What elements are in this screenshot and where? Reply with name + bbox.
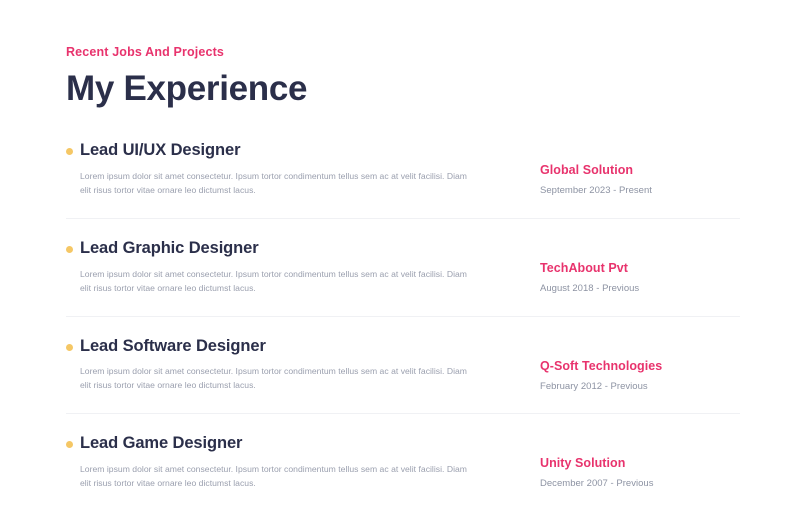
experience-company-name: TechAbout Pvt [540, 261, 740, 276]
experience-role-description: Lorem ipsum dolor sit amet consectetur. … [80, 365, 472, 393]
experience-item-company: TechAbout Pvt August 2018 - Previous [540, 239, 740, 294]
experience-company-period: August 2018 - Previous [540, 283, 740, 294]
experience-company-name: Q-Soft Technologies [540, 359, 740, 374]
experience-role-description: Lorem ipsum dolor sit amet consectetur. … [80, 268, 472, 296]
bullet-dot-icon [66, 441, 73, 448]
experience-company-period: December 2007 - Previous [540, 478, 740, 489]
experience-company-name: Unity Solution [540, 456, 740, 471]
experience-role-title: Lead Graphic Designer [80, 239, 500, 259]
experience-item-details: Lead Game Designer Lorem ipsum dolor sit… [66, 434, 500, 491]
experience-item-company: Unity Solution December 2007 - Previous [540, 434, 740, 489]
experience-item-details: Lead Graphic Designer Lorem ipsum dolor … [66, 239, 500, 296]
experience-item-details: Lead Software Designer Lorem ipsum dolor… [66, 337, 500, 394]
experience-company-period: February 2012 - Previous [540, 381, 740, 392]
experience-company-period: September 2023 - Present [540, 185, 740, 196]
bullet-dot-icon [66, 246, 73, 253]
experience-item-company: Global Solution September 2023 - Present [540, 141, 740, 196]
experience-company-name: Global Solution [540, 163, 740, 178]
experience-item-company: Q-Soft Technologies February 2012 - Prev… [540, 337, 740, 392]
experience-role-title: Lead UI/UX Designer [80, 141, 500, 161]
experience-item[interactable]: Lead Graphic Designer Lorem ipsum dolor … [66, 219, 740, 317]
experience-item-details: Lead UI/UX Designer Lorem ipsum dolor si… [66, 141, 500, 198]
page-title: My Experience [66, 70, 740, 109]
experience-page: Recent Jobs And Projects My Experience L… [0, 0, 800, 518]
experience-role-title: Lead Game Designer [80, 434, 500, 454]
section-eyebrow: Recent Jobs And Projects [66, 46, 740, 60]
bullet-dot-icon [66, 344, 73, 351]
experience-role-description: Lorem ipsum dolor sit amet consectetur. … [80, 463, 472, 491]
experience-item[interactable]: Lead Software Designer Lorem ipsum dolor… [66, 317, 740, 415]
bullet-dot-icon [66, 148, 73, 155]
experience-list: Lead UI/UX Designer Lorem ipsum dolor si… [66, 141, 740, 511]
experience-role-title: Lead Software Designer [80, 337, 500, 357]
experience-role-description: Lorem ipsum dolor sit amet consectetur. … [80, 170, 472, 198]
experience-item[interactable]: Lead Game Designer Lorem ipsum dolor sit… [66, 414, 740, 511]
page-header: Recent Jobs And Projects My Experience [66, 46, 740, 108]
experience-item[interactable]: Lead UI/UX Designer Lorem ipsum dolor si… [66, 141, 740, 219]
